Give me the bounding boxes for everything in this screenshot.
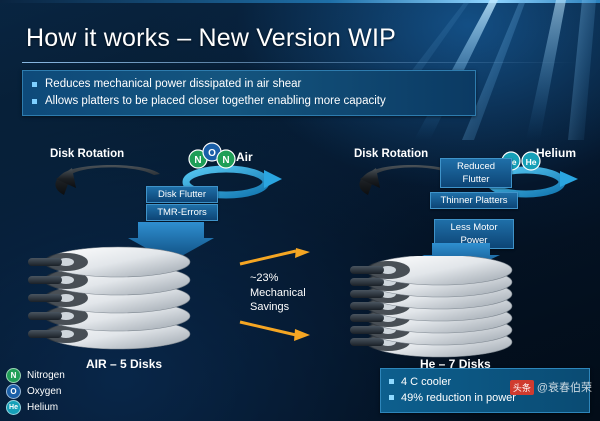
watermark-text: @衰春伯荣 xyxy=(537,382,592,394)
legend-row-oxygen: O Oxygen xyxy=(6,383,65,399)
legend-row-helium: He Helium xyxy=(6,399,65,415)
right-effect-reduced-flutter: Reduced Flutter xyxy=(440,158,512,188)
watermark: 头条@衰春伯荣 xyxy=(510,379,592,395)
middle-arrow-bottom-icon xyxy=(238,318,318,342)
nitrogen-icon: N xyxy=(6,368,21,383)
air-label: Air xyxy=(236,150,253,164)
left-disk-stack xyxy=(18,244,218,354)
watermark-badge: 头条 xyxy=(510,380,534,395)
top-accent-line xyxy=(0,0,600,3)
right-effect-thinner-platters: Thinner Platters xyxy=(430,192,518,209)
bullet-square-icon xyxy=(389,395,394,400)
right-effect-less-motor-power: Less Motor Power xyxy=(434,219,514,249)
bullet-square-icon xyxy=(389,379,394,384)
legend-label-oxygen: Oxygen xyxy=(27,386,61,397)
left-effect-disk-flutter: Disk Flutter xyxy=(146,186,218,203)
left-disk-rotation-label: Disk Rotation xyxy=(50,148,124,160)
result-text-2: 49% reduction in power xyxy=(401,392,516,404)
legend-row-nitrogen: N Nitrogen xyxy=(6,367,65,383)
bullet-text-2: Allows platters to be placed closer toge… xyxy=(45,95,386,107)
gas-legend: N Nitrogen O Oxygen He Helium xyxy=(6,367,65,415)
page-title: How it works – New Version WIP xyxy=(26,24,396,53)
right-disk-stack xyxy=(330,256,560,360)
left-caption: AIR – 5 Disks xyxy=(86,357,162,371)
slide-canvas: How it works – New Version WIP Reduces m… xyxy=(0,0,600,421)
helium-icon: He xyxy=(6,400,21,415)
svg-text:N: N xyxy=(222,155,229,166)
middle-savings-line2: Mechanical xyxy=(250,287,306,299)
middle-savings-line3: Savings xyxy=(250,301,289,313)
bullet-square-icon xyxy=(32,99,37,104)
svg-text:O: O xyxy=(208,148,216,159)
bullet-panel: Reduces mechanical power dissipated in a… xyxy=(22,70,476,116)
helium-label: Helium xyxy=(536,146,576,160)
oxygen-icon: O xyxy=(6,384,21,399)
svg-text:N: N xyxy=(194,155,201,166)
middle-savings-line1: ~23% xyxy=(250,272,278,284)
result-text-1: 4 C cooler xyxy=(401,376,451,388)
title-underline xyxy=(22,62,578,63)
legend-label-nitrogen: Nitrogen xyxy=(27,370,65,381)
bullet-item-2: Allows platters to be placed closer toge… xyxy=(23,93,475,110)
left-down-arrow-icon xyxy=(126,222,216,264)
bullet-item-1: Reduces mechanical power dissipated in a… xyxy=(23,76,475,93)
bullet-square-icon xyxy=(32,82,37,87)
left-effect-tmr-errors: TMR-Errors xyxy=(146,204,218,221)
legend-label-helium: Helium xyxy=(27,402,58,413)
air-molecules-icon: N O N xyxy=(186,142,242,172)
middle-arrow-top-icon xyxy=(238,248,318,270)
bullet-text-1: Reduces mechanical power dissipated in a… xyxy=(45,78,301,90)
right-disk-rotation-label: Disk Rotation xyxy=(354,148,428,160)
